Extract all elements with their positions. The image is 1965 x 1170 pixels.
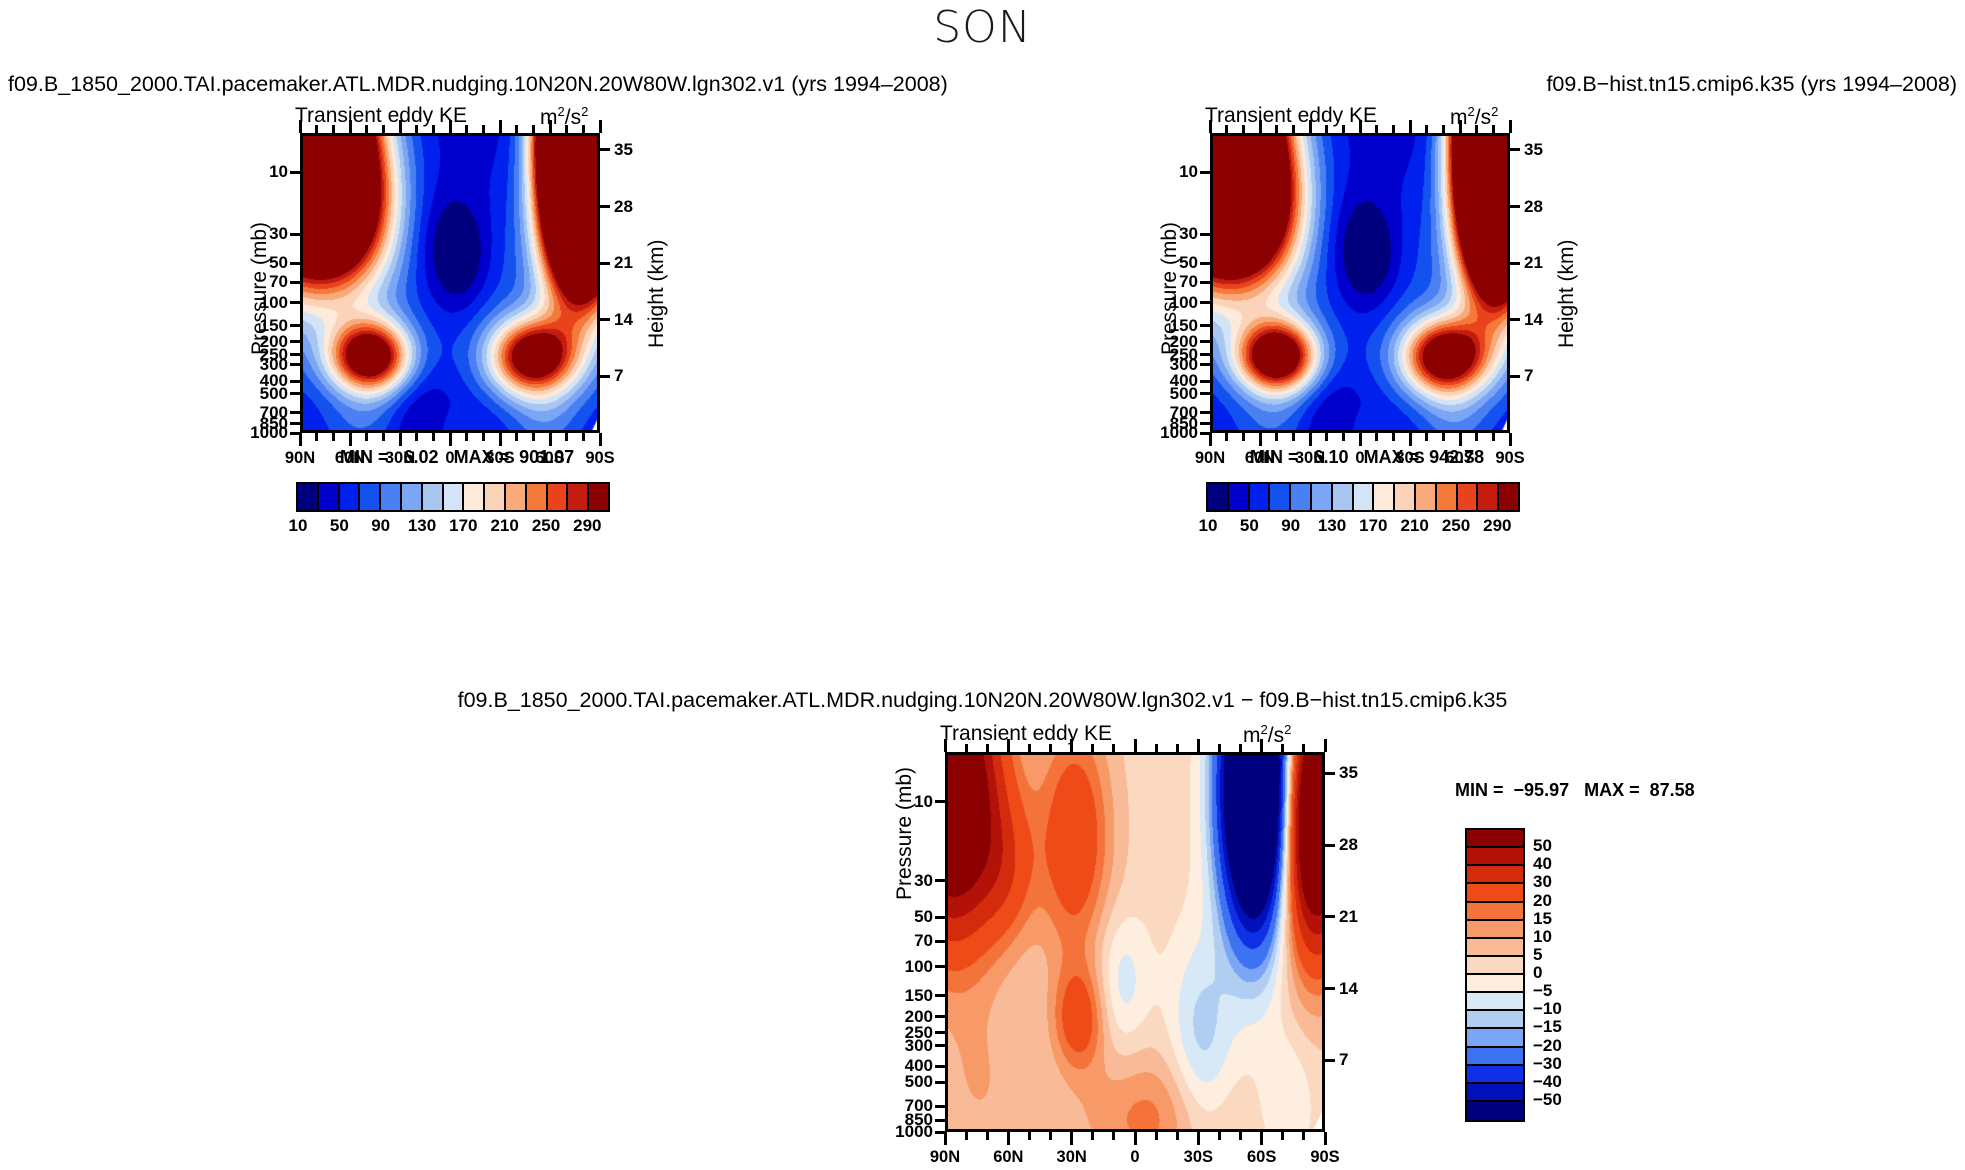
latitude-tick-label: 30S <box>485 449 514 468</box>
top-axis-tick-mark <box>1309 120 1312 133</box>
pressure-tick-mark <box>935 965 945 968</box>
top-axis-tick-mark <box>1509 120 1512 133</box>
season-title: SON <box>0 2 1965 53</box>
colorbar-swatch <box>548 484 569 510</box>
diff-max-value: 87.58 <box>1650 780 1695 800</box>
pressure-tick-label: 10 <box>230 162 288 182</box>
colorbar-swatch <box>1467 848 1523 866</box>
pressure-tick-mark <box>290 262 300 265</box>
colorbar-tick-label: −50 <box>1533 1090 1562 1110</box>
diff-panel-variable-label: Transient eddy KE <box>940 722 1112 746</box>
pressure-tick-mark <box>1200 353 1210 356</box>
pressure-tick-label: 150 <box>875 986 933 1006</box>
pressure-tick-mark <box>290 301 300 304</box>
top-axis-tick-mark <box>1007 739 1010 752</box>
bottom-axis-tick-mark <box>1260 1132 1263 1145</box>
pressure-tick-label: 1000 <box>1140 423 1198 443</box>
colorbar-tick-label: 210 <box>490 516 518 536</box>
top-axis-tick-mark <box>1218 744 1221 752</box>
bottom-axis-tick-mark <box>1176 1132 1179 1140</box>
top-axis-tick-mark <box>532 125 535 133</box>
top-axis-tick-mark <box>1342 125 1345 133</box>
pressure-tick-label: 300 <box>875 1036 933 1056</box>
left-panel-colorbar[interactable] <box>296 482 610 512</box>
pressure-tick-mark <box>935 1065 945 1068</box>
colorbar-tick-label: 130 <box>1318 516 1346 536</box>
bottom-axis-tick-mark <box>944 1132 947 1145</box>
pressure-tick-label: 70 <box>1140 272 1198 292</box>
top-axis-tick-mark <box>1049 744 1052 752</box>
colorbar-tick-label: 50 <box>1533 836 1552 856</box>
height-tick-mark <box>1325 987 1335 990</box>
pressure-tick-mark <box>1200 233 1210 236</box>
colorbar-tick-label: 170 <box>1359 516 1387 536</box>
latitude-tick-label: 30N <box>1295 449 1325 468</box>
top-axis-tick-mark <box>565 125 568 133</box>
colorbar-tick-label: 290 <box>573 516 601 536</box>
bottom-axis-tick-mark <box>399 433 402 446</box>
colorbar-swatch <box>1467 1066 1523 1084</box>
top-axis-tick-mark <box>549 120 552 133</box>
pressure-tick-label: 30 <box>230 224 288 244</box>
bottom-axis-tick-mark <box>582 433 585 441</box>
top-axis-tick-mark <box>1475 125 1478 133</box>
pressure-tick-mark <box>1200 411 1210 414</box>
pressure-tick-mark <box>935 994 945 997</box>
height-tick-label: 14 <box>614 310 633 330</box>
top-axis-tick-mark <box>1242 125 1245 133</box>
pressure-tick-mark <box>935 1081 945 1084</box>
colorbar-swatch <box>1458 484 1479 510</box>
bottom-axis-tick-mark <box>1049 1132 1052 1140</box>
colorbar-tick-label: 15 <box>1533 909 1552 929</box>
colorbar-tick-label: 10 <box>1533 927 1552 947</box>
colorbar-tick-label: 290 <box>1483 516 1511 536</box>
latitude-tick-label: 60S <box>1247 1148 1276 1167</box>
pressure-tick-mark <box>935 1015 945 1018</box>
colorbar-tick-label: 90 <box>371 516 390 536</box>
bottom-axis-tick-mark <box>1242 433 1245 441</box>
left-panel-contour-canvas <box>303 136 600 433</box>
top-axis-tick-mark <box>1112 744 1115 752</box>
right-panel-plot[interactable] <box>1210 133 1510 433</box>
colorbar-swatch <box>1467 957 1523 975</box>
diff-panel-contour-canvas <box>948 755 1325 1132</box>
pressure-tick-mark <box>1200 262 1210 265</box>
bottom-axis-tick-mark <box>349 433 352 446</box>
height-tick-label: 21 <box>614 253 633 273</box>
pressure-tick-label: 70 <box>230 272 288 292</box>
colorbar-swatch <box>464 484 485 510</box>
height-tick-label: 21 <box>1339 907 1358 927</box>
top-axis-tick-mark <box>1375 125 1378 133</box>
diff-panel-case-title: f09.B_1850_2000.TAI.pacemaker.ATL.MDR.nu… <box>0 688 1965 713</box>
bottom-axis-tick-mark <box>415 433 418 441</box>
top-axis-tick-mark <box>349 120 352 133</box>
top-axis-tick-mark <box>315 125 318 133</box>
colorbar-tick-label: 170 <box>449 516 477 536</box>
colorbar-swatch <box>568 484 589 510</box>
bottom-axis-tick-mark <box>1459 433 1462 446</box>
latitude-tick-label: 30N <box>385 449 415 468</box>
colorbar-tick-label: 250 <box>1442 516 1470 536</box>
height-tick-label: 35 <box>1524 140 1543 160</box>
pressure-tick-mark <box>290 353 300 356</box>
bottom-axis-tick-mark <box>1134 1132 1137 1145</box>
height-tick-mark <box>1510 262 1520 265</box>
bottom-axis-tick-mark <box>1375 433 1378 441</box>
pressure-tick-mark <box>290 422 300 425</box>
colorbar-swatch <box>1467 866 1523 884</box>
colorbar-tick-label: 30 <box>1533 872 1552 892</box>
colorbar-swatch <box>402 484 423 510</box>
top-axis-tick-mark <box>1409 120 1412 133</box>
latitude-tick-label: 0 <box>445 449 454 468</box>
top-axis-tick-mark <box>1134 739 1137 752</box>
bottom-axis-tick-mark <box>449 433 452 446</box>
latitude-tick-label: 60N <box>993 1148 1023 1167</box>
bottom-axis-tick-mark <box>1209 433 1212 446</box>
top-axis-tick-mark <box>1325 125 1328 133</box>
colorbar-swatch <box>589 484 608 510</box>
pressure-tick-label: 50 <box>875 907 933 927</box>
bottom-axis-tick-mark <box>432 433 435 441</box>
height-tick-mark <box>600 148 610 151</box>
top-axis-tick-mark <box>415 125 418 133</box>
top-axis-tick-mark <box>515 125 518 133</box>
bottom-axis-tick-mark <box>1225 433 1228 441</box>
bottom-axis-tick-mark <box>1342 433 1345 441</box>
bottom-axis-tick-mark <box>1324 1132 1327 1145</box>
colorbar-swatch <box>1270 484 1291 510</box>
top-axis-tick-mark <box>1260 739 1263 752</box>
height-tick-mark <box>600 375 610 378</box>
colorbar-swatch <box>444 484 465 510</box>
height-tick-mark <box>1325 844 1335 847</box>
top-axis-tick-mark <box>1359 120 1362 133</box>
bottom-axis-tick-mark <box>1155 1132 1158 1140</box>
top-axis-tick-mark <box>332 125 335 133</box>
colorbar-swatch <box>298 484 319 510</box>
bottom-axis-tick-mark <box>299 433 302 446</box>
bottom-axis-tick-mark <box>1425 433 1428 441</box>
colorbar-swatch <box>1467 975 1523 993</box>
top-axis-tick-mark <box>399 120 402 133</box>
right-panel-contour-canvas <box>1213 136 1510 433</box>
latitude-tick-label: 0 <box>1355 449 1364 468</box>
colorbar-swatch <box>1467 939 1523 957</box>
pressure-tick-mark <box>935 800 945 803</box>
bottom-axis-tick-mark <box>1409 433 1412 446</box>
left-panel-plot[interactable] <box>300 133 600 433</box>
pressure-tick-mark <box>935 916 945 919</box>
top-axis-tick-mark <box>1275 125 1278 133</box>
diff-panel-colorbar[interactable] <box>1465 828 1525 1122</box>
latitude-tick-label: 90N <box>1195 449 1225 468</box>
bottom-axis-tick-mark <box>1359 433 1362 446</box>
height-tick-label: 7 <box>1524 366 1533 386</box>
diff-panel-minmax: MIN = −95.97 MAX = 87.58 <box>1455 780 1695 801</box>
height-tick-mark <box>600 262 610 265</box>
bottom-axis-tick-mark <box>1028 1132 1031 1140</box>
top-axis-tick-mark <box>1028 744 1031 752</box>
pressure-tick-mark <box>290 392 300 395</box>
top-axis-tick-mark <box>1292 125 1295 133</box>
bottom-axis-tick-mark <box>1275 433 1278 441</box>
height-tick-mark <box>1325 915 1335 918</box>
bottom-axis-tick-mark <box>482 433 485 441</box>
pressure-tick-label: 10 <box>1140 162 1198 182</box>
bottom-axis-tick-mark <box>315 433 318 441</box>
bottom-axis-tick-mark <box>332 433 335 441</box>
top-axis-tick-mark <box>465 125 468 133</box>
colorbar-swatch <box>506 484 527 510</box>
pressure-tick-mark <box>290 281 300 284</box>
bottom-axis-tick-mark <box>532 433 535 441</box>
right-panel-case-title: f09.B−hist.tn15.cmip6.k35 (yrs 1994–2008… <box>1546 72 1957 97</box>
height-tick-mark <box>1325 1059 1335 1062</box>
colorbar-swatch <box>485 484 506 510</box>
latitude-tick-label: 90S <box>1495 449 1524 468</box>
bottom-axis-tick-mark <box>1325 433 1328 441</box>
colorbar-swatch <box>1354 484 1375 510</box>
height-tick-label: 7 <box>1339 1050 1348 1070</box>
top-axis-tick-mark <box>1239 744 1242 752</box>
colorbar-tick-label: 250 <box>532 516 560 536</box>
height-tick-label: 7 <box>614 366 623 386</box>
height-tick-label: 28 <box>1524 197 1543 217</box>
top-axis-tick-mark <box>986 744 989 752</box>
colorbar-swatch <box>1291 484 1312 510</box>
pressure-tick-label: 30 <box>875 871 933 891</box>
bottom-axis-tick-mark <box>1442 433 1445 441</box>
bottom-axis-tick-mark <box>986 1132 989 1140</box>
pressure-tick-mark <box>1200 422 1210 425</box>
bottom-axis-tick-mark <box>1239 1132 1242 1140</box>
colorbar-swatch <box>381 484 402 510</box>
top-axis-tick-mark <box>1281 744 1284 752</box>
bottom-axis-tick-mark <box>565 433 568 441</box>
pressure-tick-label: 50 <box>230 253 288 273</box>
colorbar-swatch <box>1467 884 1523 902</box>
pressure-tick-label: 70 <box>875 931 933 951</box>
top-axis-tick-mark <box>1091 744 1094 752</box>
colorbar-tick-label: 10 <box>289 516 308 536</box>
diff-panel-plot[interactable] <box>945 752 1325 1132</box>
pressure-tick-mark <box>1200 171 1210 174</box>
latitude-tick-label: 60S <box>1445 449 1474 468</box>
bottom-axis-tick-mark <box>1309 433 1312 446</box>
pressure-tick-mark <box>935 940 945 943</box>
colorbar-tick-label: 0 <box>1533 963 1542 983</box>
colorbar-tick-label: 130 <box>408 516 436 536</box>
colorbar-swatch <box>1467 1102 1523 1120</box>
colorbar-swatch <box>1478 484 1499 510</box>
pressure-tick-label: 50 <box>1140 253 1198 273</box>
height-tick-mark <box>600 318 610 321</box>
latitude-tick-label: 90N <box>930 1148 960 1167</box>
pressure-tick-label: 500 <box>230 384 288 404</box>
colorbar-tick-label: 50 <box>330 516 349 536</box>
height-tick-label: 14 <box>1339 979 1358 999</box>
bottom-axis-tick-mark <box>1281 1132 1284 1140</box>
colorbar-tick-label: 90 <box>1281 516 1300 536</box>
bottom-axis-tick-mark <box>1492 433 1495 441</box>
colorbar-tick-label: −30 <box>1533 1054 1562 1074</box>
latitude-tick-label: 0 <box>1130 1148 1139 1167</box>
colorbar-swatch <box>1416 484 1437 510</box>
pressure-tick-label: 100 <box>1140 293 1198 313</box>
bottom-axis-tick-mark <box>465 433 468 441</box>
pressure-tick-mark <box>290 171 300 174</box>
pressure-tick-label: 500 <box>1140 384 1198 404</box>
bottom-axis-tick-mark <box>515 433 518 441</box>
bottom-axis-tick-mark <box>1218 1132 1221 1140</box>
latitude-tick-label: 30S <box>1395 449 1424 468</box>
colorbar-swatch <box>1229 484 1250 510</box>
left-panel-case-title: f09.B_1850_2000.TAI.pacemaker.ATL.MDR.nu… <box>8 72 948 97</box>
right-panel-height-label: Height (km) <box>1555 239 1579 348</box>
colorbar-swatch <box>1208 484 1229 510</box>
height-tick-label: 28 <box>614 197 633 217</box>
pressure-tick-mark <box>290 324 300 327</box>
diff-min-value: −95.97 <box>1514 780 1570 800</box>
height-tick-label: 14 <box>1524 310 1543 330</box>
pressure-tick-mark <box>290 411 300 414</box>
top-axis-tick-mark <box>1492 125 1495 133</box>
colorbar-swatch <box>1312 484 1333 510</box>
top-axis-tick-mark <box>1070 739 1073 752</box>
top-axis-tick-mark <box>1392 125 1395 133</box>
pressure-tick-mark <box>935 1031 945 1034</box>
pressure-tick-mark <box>290 233 300 236</box>
pressure-tick-label: 10 <box>875 792 933 812</box>
bottom-axis-tick-mark <box>1392 433 1395 441</box>
top-axis-tick-mark <box>432 125 435 133</box>
pressure-tick-mark <box>1200 363 1210 366</box>
latitude-tick-label: 30N <box>1057 1148 1087 1167</box>
colorbar-swatch <box>1467 921 1523 939</box>
colorbar-swatch <box>1467 830 1523 848</box>
top-axis-tick-mark <box>1197 739 1200 752</box>
colorbar-swatch <box>527 484 548 510</box>
bottom-axis-tick-mark <box>1509 433 1512 446</box>
top-axis-tick-mark <box>1259 120 1262 133</box>
colorbar-swatch <box>1467 1084 1523 1102</box>
colorbar-tick-label: 210 <box>1400 516 1428 536</box>
top-axis-tick-mark <box>944 739 947 752</box>
top-axis-tick-mark <box>449 120 452 133</box>
bottom-axis-tick-mark <box>1292 433 1295 441</box>
top-axis-tick-mark <box>1302 744 1305 752</box>
top-axis-tick-mark <box>599 120 602 133</box>
bottom-axis-tick-mark <box>1197 1132 1200 1145</box>
height-tick-mark <box>600 205 610 208</box>
top-axis-tick-mark <box>299 120 302 133</box>
colorbar-swatch <box>1467 1011 1523 1029</box>
top-axis-tick-mark <box>582 125 585 133</box>
bottom-axis-tick-mark <box>1112 1132 1115 1140</box>
top-axis-tick-mark <box>1324 739 1327 752</box>
pressure-tick-mark <box>935 1044 945 1047</box>
colorbar-swatch <box>1250 484 1271 510</box>
right-panel-colorbar[interactable] <box>1206 482 1520 512</box>
colorbar-swatch <box>1467 993 1523 1011</box>
bottom-axis-tick-mark <box>1007 1132 1010 1145</box>
latitude-tick-label: 90S <box>585 449 614 468</box>
pressure-tick-mark <box>1200 324 1210 327</box>
pressure-tick-mark <box>290 340 300 343</box>
bottom-axis-tick-mark <box>499 433 502 446</box>
colorbar-tick-label: −40 <box>1533 1072 1562 1092</box>
colorbar-tick-label: −10 <box>1533 999 1562 1019</box>
pressure-tick-mark <box>1200 340 1210 343</box>
pressure-tick-mark <box>1200 301 1210 304</box>
top-axis-tick-mark <box>1442 125 1445 133</box>
height-tick-mark <box>1510 148 1520 151</box>
diff-max-label: MAX = <box>1584 780 1640 800</box>
height-tick-mark <box>1510 205 1520 208</box>
colorbar-tick-label: 20 <box>1533 891 1552 911</box>
colorbar-swatch <box>1395 484 1416 510</box>
bottom-axis-tick-mark <box>1070 1132 1073 1145</box>
pressure-tick-mark <box>290 380 300 383</box>
bottom-axis-tick-mark <box>599 433 602 446</box>
top-axis-tick-mark <box>1155 744 1158 752</box>
top-axis-tick-mark <box>365 125 368 133</box>
pressure-tick-mark <box>1200 380 1210 383</box>
latitude-tick-label: 30S <box>1184 1148 1213 1167</box>
pressure-tick-label: 30 <box>1140 224 1198 244</box>
latitude-tick-label: 60N <box>335 449 365 468</box>
colorbar-swatch <box>1467 1029 1523 1047</box>
pressure-tick-mark <box>935 1105 945 1108</box>
colorbar-tick-label: 5 <box>1533 945 1542 965</box>
bottom-axis-tick-mark <box>549 433 552 446</box>
colorbar-swatch <box>423 484 444 510</box>
colorbar-tick-label: −20 <box>1533 1036 1562 1056</box>
top-axis-tick-mark <box>1176 744 1179 752</box>
pressure-tick-label: 500 <box>875 1072 933 1092</box>
pressure-tick-label: 1000 <box>875 1122 933 1142</box>
colorbar-swatch <box>1374 484 1395 510</box>
pressure-tick-mark <box>1200 392 1210 395</box>
top-axis-tick-mark <box>1425 125 1428 133</box>
top-axis-tick-mark <box>482 125 485 133</box>
top-axis-tick-mark <box>382 125 385 133</box>
bottom-axis-tick-mark <box>965 1132 968 1140</box>
top-axis-tick-mark <box>965 744 968 752</box>
top-axis-tick-mark <box>1225 125 1228 133</box>
colorbar-swatch <box>319 484 340 510</box>
left-panel-height-label: Height (km) <box>645 239 669 348</box>
bottom-axis-tick-mark <box>1475 433 1478 441</box>
pressure-tick-mark <box>1200 281 1210 284</box>
colorbar-swatch <box>340 484 361 510</box>
height-tick-mark <box>1325 772 1335 775</box>
colorbar-swatch <box>360 484 381 510</box>
pressure-tick-label: 100 <box>875 957 933 977</box>
height-tick-mark <box>1510 375 1520 378</box>
colorbar-swatch <box>1437 484 1458 510</box>
top-axis-tick-mark <box>1209 120 1212 133</box>
pressure-tick-mark <box>290 363 300 366</box>
latitude-tick-label: 90N <box>285 449 315 468</box>
bottom-axis-tick-mark <box>382 433 385 441</box>
bottom-axis-tick-mark <box>1302 1132 1305 1140</box>
top-axis-tick-mark <box>1459 120 1462 133</box>
colorbar-swatch <box>1333 484 1354 510</box>
